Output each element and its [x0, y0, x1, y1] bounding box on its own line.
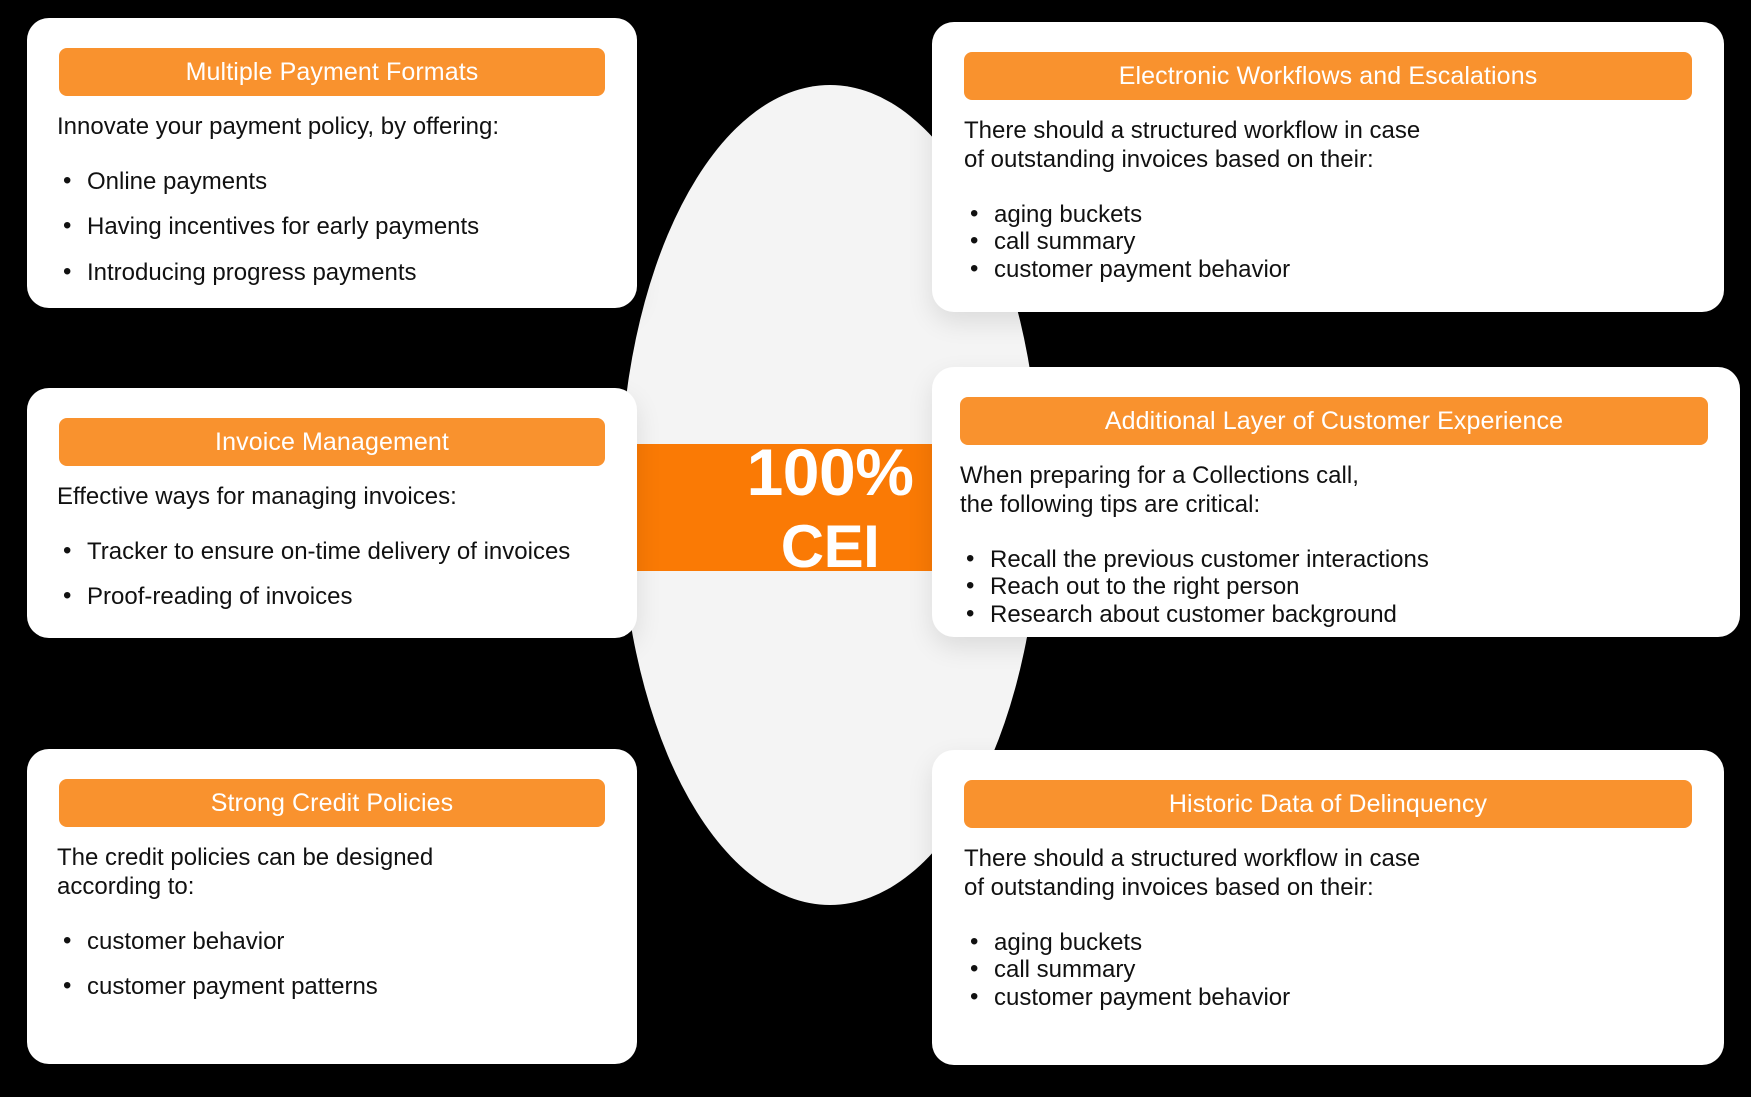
- card-body-delinquency: There should a structured workflow in ca…: [964, 845, 1704, 1011]
- card-title-delinquency: Historic Data of Delinquency: [964, 780, 1692, 828]
- card-title-invoice-management: Invoice Management: [59, 418, 605, 466]
- list-item: customer payment behavior: [964, 984, 1704, 1012]
- bullet-list-delinquency: aging buckets call summary customer paym…: [964, 929, 1704, 1012]
- list-item: Tracker to ensure on-time delivery of in…: [57, 538, 617, 566]
- list-item: Recall the previous customer interaction…: [960, 546, 1720, 574]
- card-electronic-workflows-and-escalations[interactable]: Electronic Workflows and Escalations The…: [932, 22, 1724, 312]
- card-additional-layer-of-customer-experience[interactable]: Additional Layer of Customer Experience …: [932, 367, 1740, 637]
- list-item: aging buckets: [964, 929, 1704, 957]
- bullet-list-invoice-management: Tracker to ensure on-time delivery of in…: [57, 538, 617, 611]
- card-intro-credit-policies: The credit policies can be designed acco…: [57, 844, 617, 902]
- card-historic-data-of-delinquency[interactable]: Historic Data of Delinquency There shoul…: [932, 750, 1724, 1065]
- card-title-customer-experience: Additional Layer of Customer Experience: [960, 397, 1708, 445]
- list-item: Online payments: [57, 168, 617, 196]
- infographic-canvas: 100% CEI Multiple Payment Formats Innova…: [0, 0, 1751, 1097]
- card-body-customer-experience: When preparing for a Collections call, t…: [960, 462, 1720, 628]
- card-body-invoice-management: Effective ways for managing invoices: Tr…: [57, 483, 617, 611]
- card-invoice-management[interactable]: Invoice Management Effective ways for ma…: [27, 388, 637, 638]
- list-item: Introducing progress payments: [57, 259, 617, 287]
- hub-percent-value: 100%: [747, 439, 914, 505]
- list-item: customer payment behavior: [964, 256, 1704, 284]
- list-item: Having incentives for early payments: [57, 213, 617, 241]
- list-item: customer payment patterns: [57, 973, 617, 1001]
- bullet-list-workflows: aging buckets call summary customer paym…: [964, 201, 1704, 284]
- card-multiple-payment-formats[interactable]: Multiple Payment Formats Innovate your p…: [27, 18, 637, 308]
- list-item: call summary: [964, 228, 1704, 256]
- card-intro-workflows: There should a structured workflow in ca…: [964, 117, 1704, 175]
- list-item: Research about customer background: [960, 601, 1720, 629]
- card-intro-payment-formats: Innovate your payment policy, by offerin…: [57, 113, 617, 142]
- card-intro-delinquency: There should a structured workflow in ca…: [964, 845, 1704, 903]
- card-body-workflows: There should a structured workflow in ca…: [964, 117, 1704, 283]
- card-title-payment-formats: Multiple Payment Formats: [59, 48, 605, 96]
- card-intro-invoice-management: Effective ways for managing invoices:: [57, 483, 617, 512]
- list-item: Proof-reading of invoices: [57, 583, 617, 611]
- card-body-payment-formats: Innovate your payment policy, by offerin…: [57, 113, 617, 287]
- bullet-list-customer-experience: Recall the previous customer interaction…: [960, 546, 1720, 629]
- card-body-credit-policies: The credit policies can be designed acco…: [57, 844, 617, 1001]
- list-item: call summary: [964, 956, 1704, 984]
- list-item: customer behavior: [57, 928, 617, 956]
- bullet-list-payment-formats: Online payments Having incentives for ea…: [57, 168, 617, 287]
- bullet-list-credit-policies: customer behavior customer payment patte…: [57, 928, 617, 1001]
- card-strong-credit-policies[interactable]: Strong Credit Policies The credit polici…: [27, 749, 637, 1064]
- card-intro-customer-experience: When preparing for a Collections call, t…: [960, 462, 1720, 520]
- list-item: Reach out to the right person: [960, 573, 1720, 601]
- card-title-credit-policies: Strong Credit Policies: [59, 779, 605, 827]
- card-title-workflows: Electronic Workflows and Escalations: [964, 52, 1692, 100]
- list-item: aging buckets: [964, 201, 1704, 229]
- hub-metric-label: CEI: [781, 517, 880, 577]
